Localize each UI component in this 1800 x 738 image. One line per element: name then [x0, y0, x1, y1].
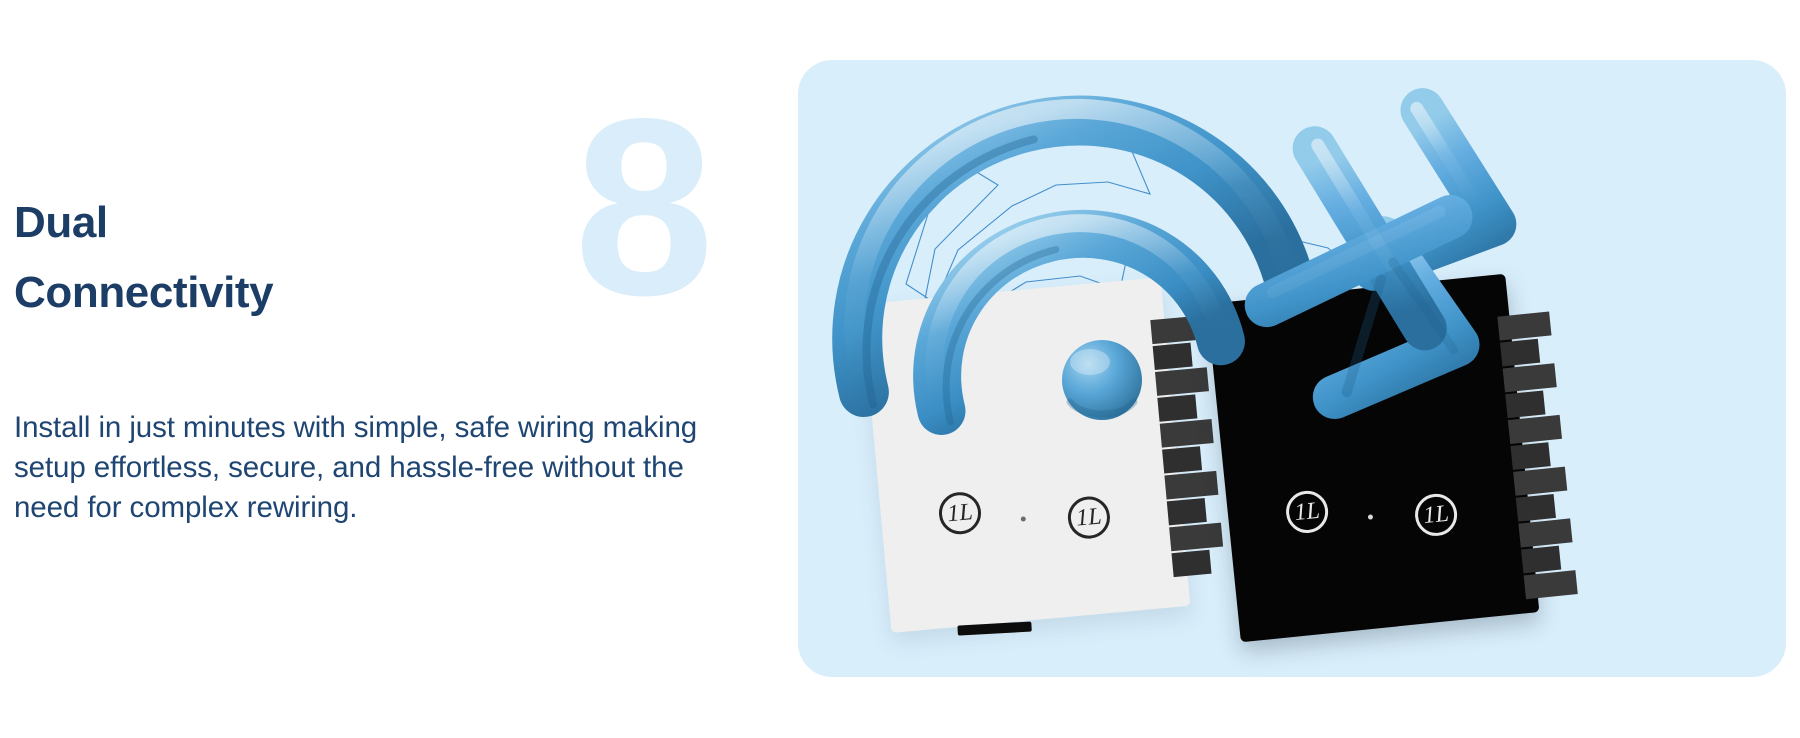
slide-root: 8 Dual Connectivity Install in just minu… [0, 0, 1800, 738]
bluetooth-icon [1228, 78, 1558, 438]
step-number-watermark: 8 [574, 100, 708, 317]
text-column: 8 Dual Connectivity Install in just minu… [14, 0, 754, 738]
white-plate-badge-right: 1L [1066, 495, 1112, 541]
wifi-icon [808, 90, 1238, 410]
black-plate-center-dot [1368, 514, 1373, 519]
black-plate-badge-left: 1L [1284, 489, 1330, 535]
white-plate-center-dot [1021, 516, 1026, 521]
black-plate-badge-right: 1L [1413, 492, 1459, 538]
white-plate-badge-left: 1L [937, 490, 983, 536]
body-paragraph: Install in just minutes with simple, saf… [14, 408, 744, 528]
illustration-panel: 1L 1L [798, 60, 1786, 677]
page-title: Dual Connectivity [14, 188, 534, 327]
illustration-stage: 1L 1L [798, 60, 1786, 677]
